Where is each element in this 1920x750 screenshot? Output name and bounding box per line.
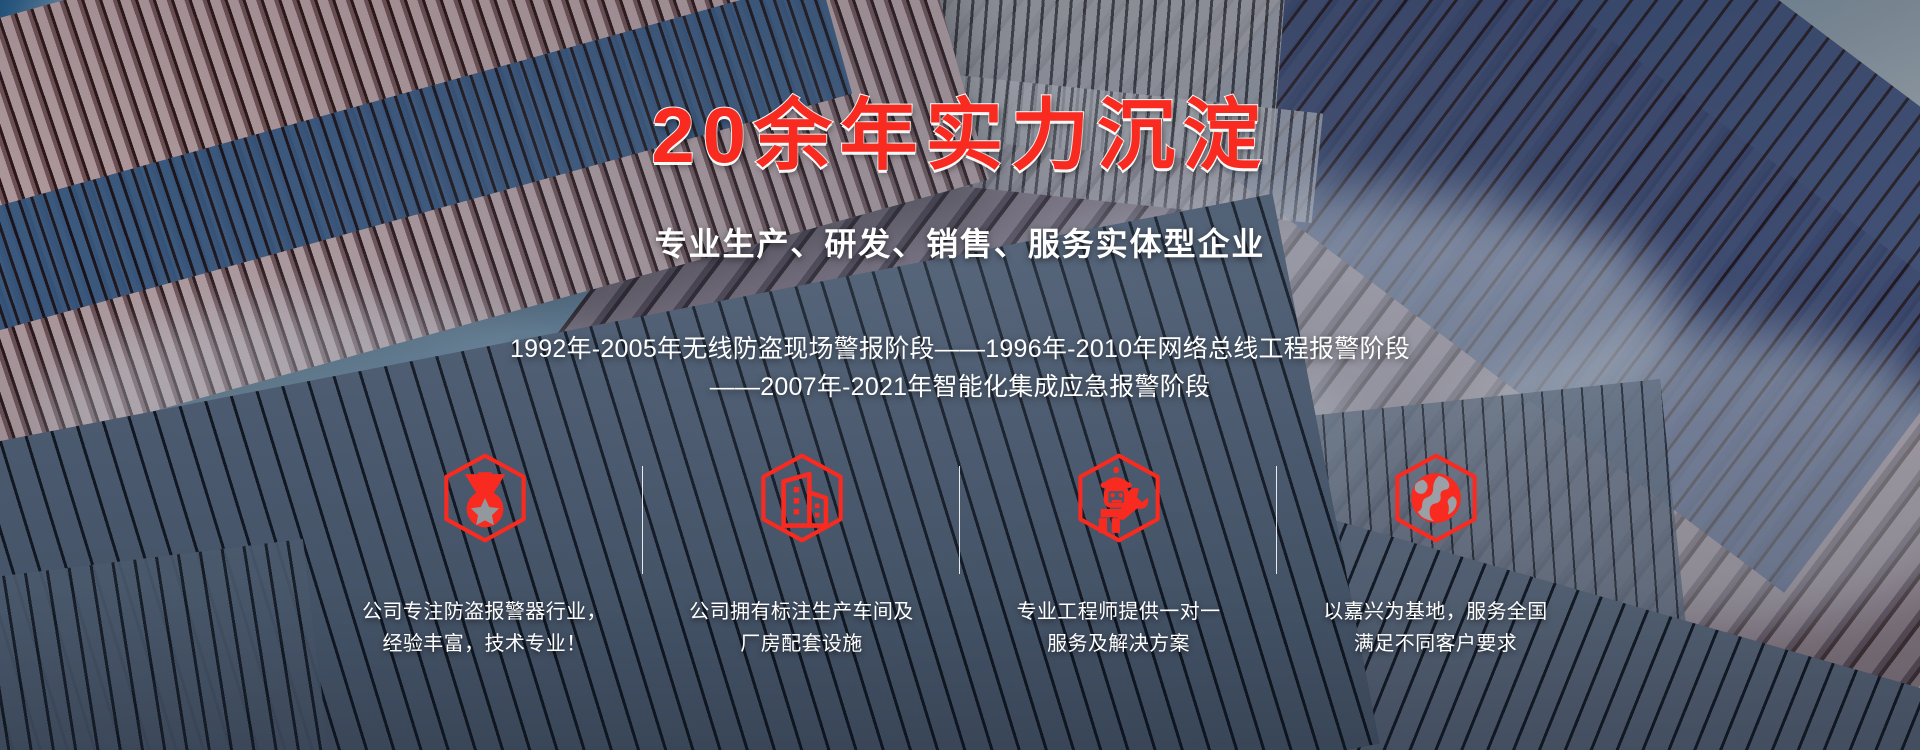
feature-caption-3: 专业工程师提供一对一 服务及解决方案: [960, 596, 1277, 661]
feature-caption-1: 公司专注防盗报警器行业， 经验丰富，技术专业！: [326, 596, 643, 661]
feature-item-2[interactable]: [643, 452, 960, 582]
subtitle: 专业生产、研发、销售、服务实体型企业: [0, 228, 1920, 260]
description-line-1: 1992年-2005年无线防盗现场警报阶段——1996年-2010年网络总线工程…: [0, 330, 1920, 368]
banner-content: 20余年实力沉淀 专业生产、研发、销售、服务实体型企业 1992年-2005年无…: [0, 0, 1920, 750]
description-line-2: ——2007年-2021年智能化集成应急报警阶段: [0, 368, 1920, 406]
factory-buildings-icon: [756, 452, 848, 544]
feature-caption-3-line-1: 专业工程师提供一对一: [960, 596, 1277, 628]
feature-caption-2: 公司拥有标注生产车间及 厂房配套设施: [643, 596, 960, 661]
headline: 20余年实力沉淀: [0, 96, 1920, 174]
promo-banner: 20余年实力沉淀 专业生产、研发、销售、服务实体型企业 1992年-2005年无…: [0, 0, 1920, 750]
feature-caption-3-line-2: 服务及解决方案: [960, 628, 1277, 660]
feature-item-4[interactable]: [1277, 452, 1594, 582]
feature-caption-4-line-1: 以嘉兴为基地，服务全国: [1277, 596, 1594, 628]
feature-caption-1-line-2: 经验丰富，技术专业！: [326, 628, 643, 660]
feature-icon-row: [326, 452, 1594, 582]
feature-caption-2-line-2: 厂房配套设施: [643, 628, 960, 660]
globe-icon: [1390, 452, 1482, 544]
feature-caption-1-line-1: 公司专注防盗报警器行业，: [326, 596, 643, 628]
engineer-wrench-icon: [1073, 452, 1165, 544]
feature-caption-2-line-1: 公司拥有标注生产车间及: [643, 596, 960, 628]
feature-item-1[interactable]: [326, 452, 643, 582]
feature-caption-4-line-2: 满足不同客户要求: [1277, 628, 1594, 660]
feature-caption-row: 公司专注防盗报警器行业， 经验丰富，技术专业！ 公司拥有标注生产车间及 厂房配套…: [326, 596, 1594, 661]
feature-item-3[interactable]: [960, 452, 1277, 582]
description-block: 1992年-2005年无线防盗现场警报阶段——1996年-2010年网络总线工程…: [0, 330, 1920, 406]
medal-award-icon: [439, 452, 531, 544]
feature-caption-4: 以嘉兴为基地，服务全国 满足不同客户要求: [1277, 596, 1594, 661]
